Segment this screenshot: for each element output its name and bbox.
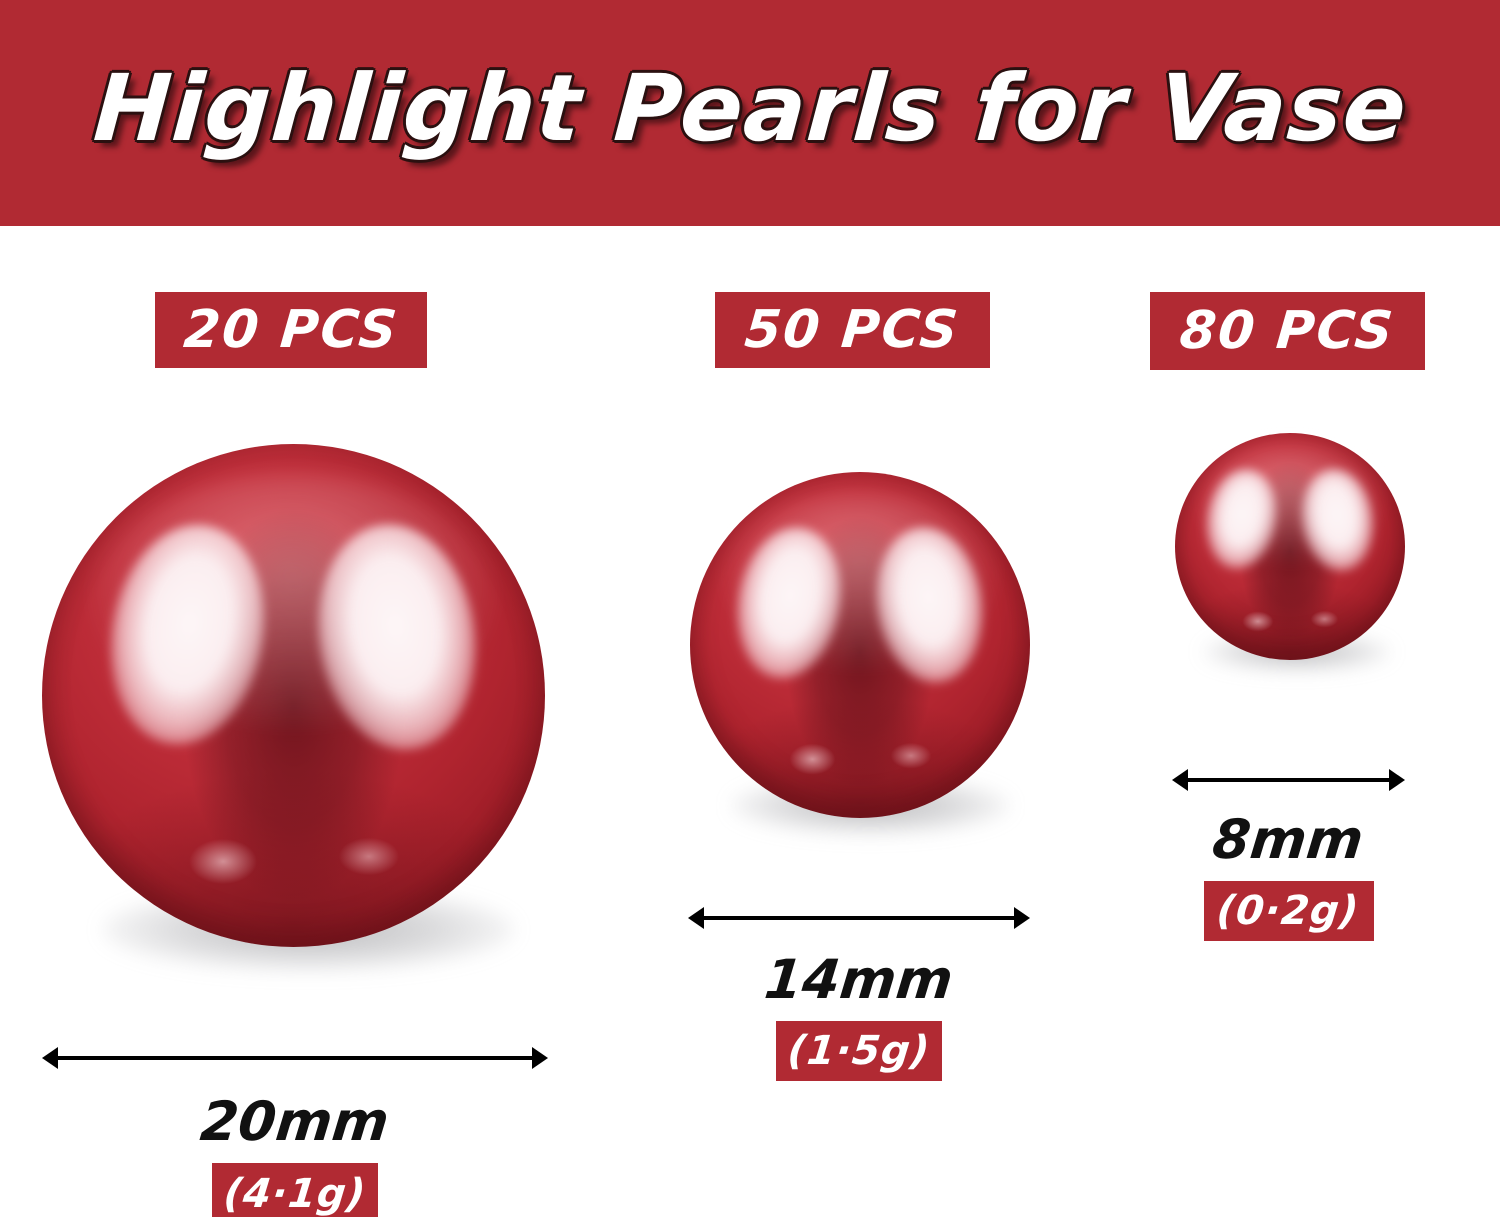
pearl-sphere [1175, 433, 1405, 660]
dimension-group-large: 20mm (4·1g) [42, 1046, 548, 1217]
count-badge-50pcs: 50 PCS [715, 292, 990, 368]
diameter-label: 20mm [42, 1090, 548, 1153]
header-banner: Highlight Pearls for Vase [0, 0, 1500, 226]
dimension-arrow-icon [1172, 768, 1405, 790]
pearl-sphere [690, 472, 1030, 818]
dimension-arrow-icon [42, 1046, 548, 1068]
dimension-group-small: 8mm (0·2g) [1172, 768, 1405, 941]
pearl-sphere [42, 444, 545, 947]
arrow-bar [699, 916, 1019, 920]
diameter-label: 14mm [688, 948, 1030, 1011]
count-badge-label: 80 PCS [1178, 301, 1398, 361]
diameter-label: 8mm [1172, 808, 1405, 871]
pearl-image-medium [690, 472, 1030, 818]
weight-label: (1·5g) [786, 1028, 933, 1074]
count-badge-80pcs: 80 PCS [1150, 292, 1425, 370]
arrow-bar [53, 1056, 537, 1060]
page-title: Highlight Pearls for Vase [90, 63, 1409, 163]
pearl-image-large [42, 444, 545, 947]
count-badge-label: 50 PCS [743, 300, 963, 360]
arrow-head-right-icon [1389, 769, 1405, 791]
arrow-head-right-icon [1014, 907, 1030, 929]
dimension-group-medium: 14mm (1·5g) [688, 906, 1030, 1081]
dimension-arrow-icon [688, 906, 1030, 928]
infographic-page: Highlight Pearls for Vase 20 PCS 50 PCS … [0, 0, 1500, 1217]
weight-badge: (4·1g) [212, 1163, 378, 1217]
arrow-bar [1183, 778, 1394, 782]
weight-badge: (1·5g) [776, 1021, 942, 1081]
pearl-image-small [1175, 433, 1405, 660]
weight-badge: (0·2g) [1204, 881, 1374, 941]
arrow-head-right-icon [532, 1047, 548, 1069]
count-badge-20pcs: 20 PCS [155, 292, 427, 368]
weight-label: (4·1g) [222, 1171, 369, 1217]
count-badge-label: 20 PCS [181, 300, 401, 360]
weight-label: (0·2g) [1215, 888, 1362, 934]
